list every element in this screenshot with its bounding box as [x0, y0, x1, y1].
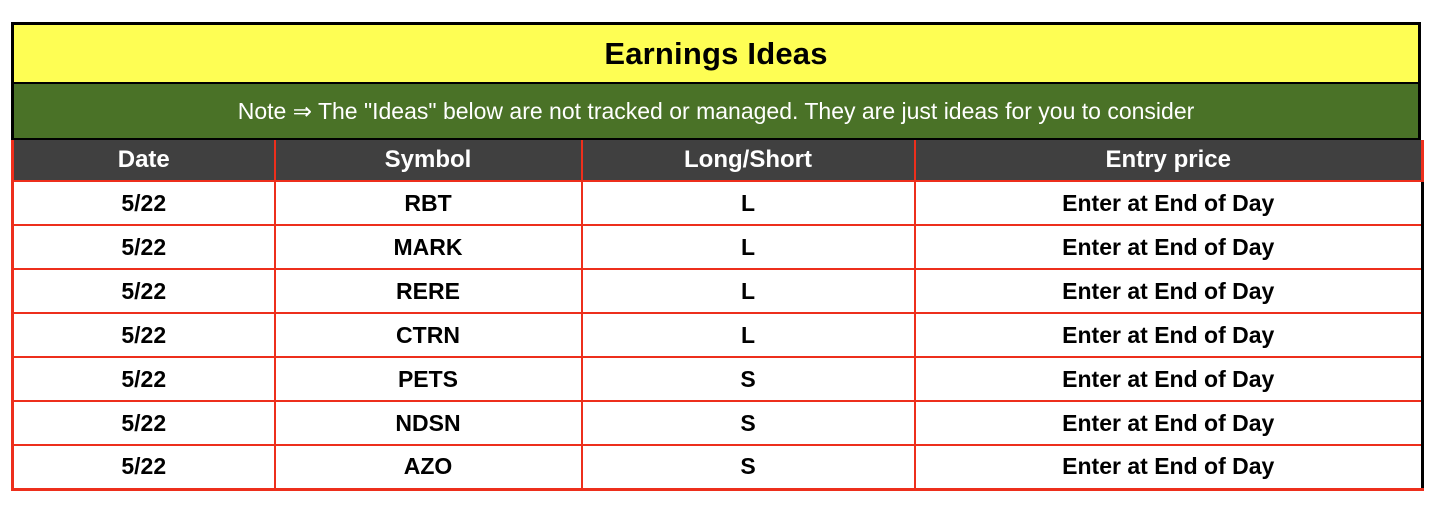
- cell-date: 5/22: [13, 357, 275, 401]
- earnings-ideas-sheet: Earnings Ideas Note ⇒ The "Ideas" below …: [11, 22, 1421, 491]
- table-row[interactable]: 5/22RERELEnter at End of Day: [13, 269, 1423, 313]
- cell-long-short: S: [582, 357, 915, 401]
- table-row[interactable]: 5/22RBTLEnter at End of Day: [13, 181, 1423, 225]
- column-header-symbol[interactable]: Symbol: [275, 140, 582, 181]
- title-banner: Earnings Ideas: [11, 22, 1421, 84]
- table-row[interactable]: 5/22AZOSEnter at End of Day: [13, 445, 1423, 489]
- cell-long-short: L: [582, 225, 915, 269]
- cell-long-short: L: [582, 269, 915, 313]
- note-banner: Note ⇒ The "Ideas" below are not tracked…: [11, 84, 1421, 140]
- table-row[interactable]: 5/22CTRNLEnter at End of Day: [13, 313, 1423, 357]
- cell-long-short: S: [582, 401, 915, 445]
- cell-date: 5/22: [13, 445, 275, 489]
- table-row[interactable]: 5/22PETSSEnter at End of Day: [13, 357, 1423, 401]
- column-header-long-short[interactable]: Long/Short: [582, 140, 915, 181]
- cell-long-short: L: [582, 181, 915, 225]
- cell-entry-price: Enter at End of Day: [915, 269, 1423, 313]
- earnings-ideas-table: Date Symbol Long/Short Entry price 5/22R…: [11, 140, 1424, 491]
- cell-symbol: RBT: [275, 181, 582, 225]
- cell-date: 5/22: [13, 401, 275, 445]
- cell-entry-price: Enter at End of Day: [915, 357, 1423, 401]
- cell-date: 5/22: [13, 181, 275, 225]
- cell-entry-price: Enter at End of Day: [915, 401, 1423, 445]
- cell-symbol: RERE: [275, 269, 582, 313]
- cell-symbol: MARK: [275, 225, 582, 269]
- column-header-entry-price[interactable]: Entry price: [915, 140, 1423, 181]
- cell-entry-price: Enter at End of Day: [915, 225, 1423, 269]
- table-header-row: Date Symbol Long/Short Entry price: [13, 140, 1423, 181]
- column-header-date[interactable]: Date: [13, 140, 275, 181]
- table-header: Date Symbol Long/Short Entry price: [13, 140, 1423, 181]
- cell-symbol: AZO: [275, 445, 582, 489]
- table-body: 5/22RBTLEnter at End of Day5/22MARKLEnte…: [13, 181, 1423, 489]
- cell-entry-price: Enter at End of Day: [915, 313, 1423, 357]
- cell-symbol: PETS: [275, 357, 582, 401]
- page-title: Earnings Ideas: [604, 38, 827, 69]
- cell-date: 5/22: [13, 225, 275, 269]
- cell-symbol: NDSN: [275, 401, 582, 445]
- cell-date: 5/22: [13, 269, 275, 313]
- note-text: Note ⇒ The "Ideas" below are not tracked…: [238, 100, 1195, 123]
- table-row[interactable]: 5/22MARKLEnter at End of Day: [13, 225, 1423, 269]
- cell-long-short: L: [582, 313, 915, 357]
- cell-symbol: CTRN: [275, 313, 582, 357]
- cell-entry-price: Enter at End of Day: [915, 445, 1423, 489]
- table-row[interactable]: 5/22NDSNSEnter at End of Day: [13, 401, 1423, 445]
- cell-entry-price: Enter at End of Day: [915, 181, 1423, 225]
- cell-long-short: S: [582, 445, 915, 489]
- cell-date: 5/22: [13, 313, 275, 357]
